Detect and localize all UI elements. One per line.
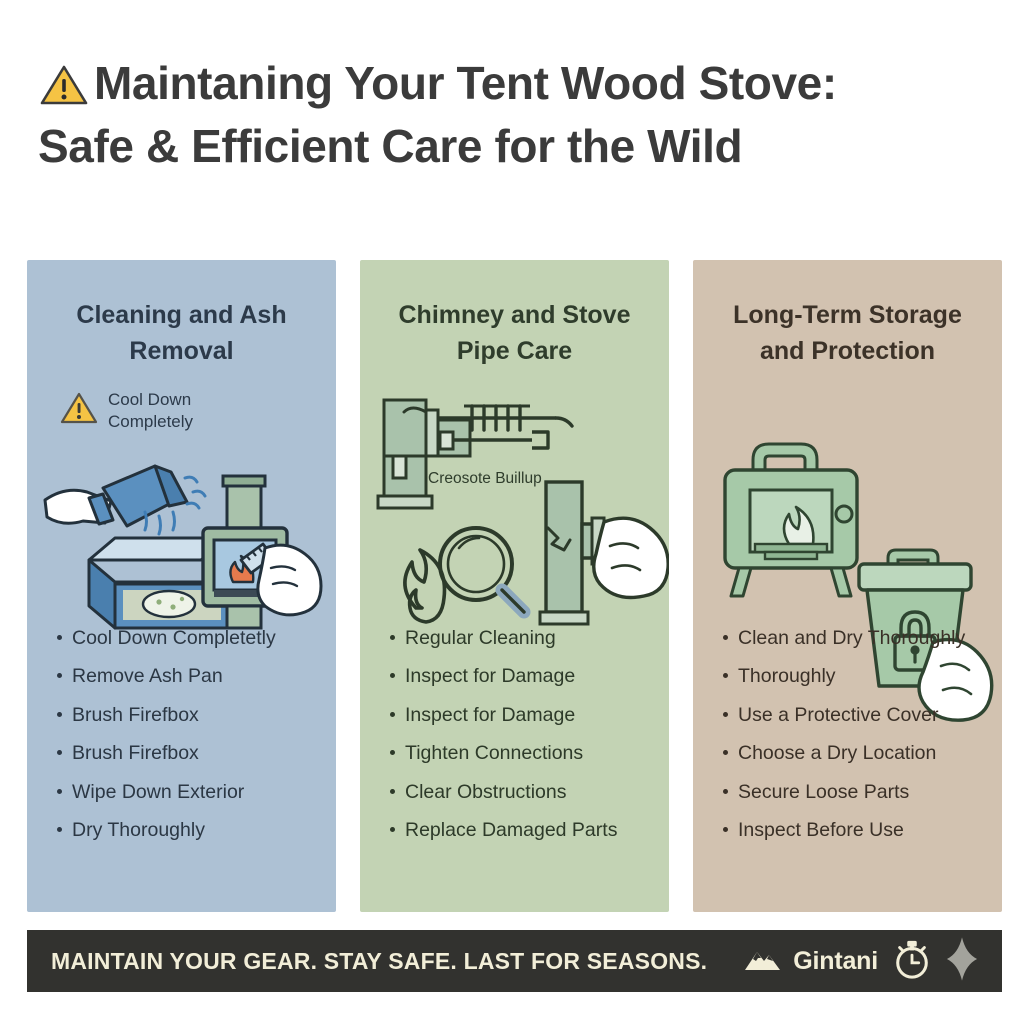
bullet-dot: [57, 673, 62, 678]
mountain-icon: [743, 946, 789, 977]
list-item: Replace Damaged Parts: [390, 812, 647, 851]
panel-3-bullet-list: Clean and Dry Thoroughly Thoroughly Use …: [693, 619, 1002, 850]
bullet-dot: [390, 789, 395, 794]
bullet-dot: [723, 635, 728, 640]
list-item: Use a Protective Cover: [723, 696, 980, 735]
list-item: Inspect Before Use: [723, 812, 980, 851]
list-item-label: Secure Loose Parts: [738, 783, 909, 803]
panel-cleaning-and-ash-removal: Cleaning and Ash Removal Cool Down Compl…: [27, 260, 336, 912]
list-item-label: Brush Firefbox: [72, 744, 199, 764]
list-item: Cool Down Completetly: [57, 619, 314, 658]
list-item-label: Inspect for Damage: [405, 706, 575, 726]
footer-brand-group: Gintani: [743, 936, 978, 987]
warning-triangle-icon: [59, 390, 99, 431]
list-item: Choose a Dry Location: [723, 735, 980, 774]
ash-pan-icon: [89, 538, 227, 628]
panel-chimney-and-stove-pipe-care: Chimney and Stove Pipe Care: [360, 260, 669, 912]
cracked-pipe-with-hand-icon: [540, 482, 668, 624]
list-item: Inspect for Damage: [390, 696, 647, 735]
list-item: Brush Firefbox: [57, 735, 314, 774]
list-item: Wipe Down Exterior: [57, 773, 314, 812]
bullet-dot: [57, 789, 62, 794]
list-item-label: Remove Ash Pan: [72, 667, 223, 687]
bullet-dot: [723, 712, 728, 717]
bullet-dot: [390, 827, 395, 832]
list-item: Clean and Dry Thoroughly: [723, 619, 980, 658]
footer-tagline: MAINTAIN YOUR GEAR. STAY SAFE. LAST FOR …: [51, 948, 707, 975]
brand-logo: Gintani: [743, 946, 878, 977]
footer-bar: MAINTAIN YOUR GEAR. STAY SAFE. LAST FOR …: [27, 930, 1002, 992]
panel-long-term-storage-and-protection: Long-Term Storage and Protection: [693, 260, 1002, 912]
list-item-label: Inspect Before Use: [738, 821, 904, 841]
hand-with-ash-scoop-icon: [45, 466, 205, 534]
list-item-label: Choose a Dry Location: [738, 744, 936, 764]
brand-name: Gintani: [793, 947, 878, 976]
bullet-dot: [390, 635, 395, 640]
panel-row: Cleaning and Ash Removal Cool Down Compl…: [27, 260, 1002, 912]
list-item-label: Clean and Dry Thoroughly: [738, 629, 965, 649]
bullet-dot: [723, 827, 728, 832]
panel-title: Long-Term Storage and Protection: [711, 298, 984, 369]
list-item: Thoroughly: [723, 658, 980, 697]
list-item-label: Replace Damaged Parts: [405, 821, 617, 841]
creosote-buildup-label: Creosote Buillup: [428, 470, 542, 488]
panel-title: Chimney and Stove Pipe Care: [378, 298, 651, 369]
panel-2-bullet-list: Regular Cleaning Inspect for Damage Insp…: [360, 619, 669, 850]
list-item-label: Inspect for Damage: [405, 667, 575, 687]
bullet-dot: [57, 827, 62, 832]
portable-wood-stove-icon: [725, 444, 857, 596]
list-item: Remove Ash Pan: [57, 658, 314, 697]
bullet-dot: [723, 673, 728, 678]
list-item: Clear Obstructions: [390, 773, 647, 812]
stove-with-brush-hand-icon: [203, 476, 321, 628]
stopwatch-icon: [892, 937, 932, 986]
page-title-line-1: Maintaning Your Tent Wood Stove:: [94, 52, 837, 115]
magnifying-glass-icon: [440, 528, 524, 612]
chimney-brush-icon: [378, 400, 572, 508]
list-item-label: Wipe Down Exterior: [72, 783, 244, 803]
bullet-dot: [57, 750, 62, 755]
flame-icon: [405, 550, 445, 622]
cool-down-note: Cool Down Completely: [59, 389, 336, 433]
list-item: Dry Thoroughly: [57, 812, 314, 851]
bullet-dot: [390, 750, 395, 755]
sparkle-icon: [946, 936, 978, 987]
list-item: Inspect for Damage: [390, 658, 647, 697]
list-item-label: Clear Obstructions: [405, 783, 566, 803]
list-item: Regular Cleaning: [390, 619, 647, 658]
bullet-dot: [723, 750, 728, 755]
page-title: Maintaning Your Tent Wood Stove: Safe & …: [38, 52, 968, 179]
list-item-label: Brush Firefbox: [72, 706, 199, 726]
bullet-dot: [390, 712, 395, 717]
list-item-label: Cool Down Completetly: [72, 629, 276, 649]
bullet-dot: [723, 789, 728, 794]
list-item-label: Dry Thoroughly: [72, 821, 205, 841]
list-item: Tighten Connections: [390, 735, 647, 774]
list-item-label: Thoroughly: [738, 667, 836, 687]
list-item-label: Tighten Connections: [405, 744, 583, 764]
list-item: Secure Loose Parts: [723, 773, 980, 812]
warning-triangle-icon: [38, 61, 90, 107]
panel-1-bullet-list: Cool Down Completetly Remove Ash Pan Bru…: [27, 619, 336, 850]
panel-title: Cleaning and Ash Removal: [45, 298, 318, 369]
page-title-line-2: Safe & Efficient Care for the Wild: [38, 115, 968, 178]
cool-down-note-text: Cool Down Completely: [108, 389, 193, 433]
bullet-dot: [390, 673, 395, 678]
list-item-label: Use a Protective Cover: [738, 706, 939, 726]
list-item: Brush Firefbox: [57, 696, 314, 735]
bullet-dot: [57, 635, 62, 640]
list-item-label: Regular Cleaning: [405, 629, 556, 649]
bullet-dot: [57, 712, 62, 717]
